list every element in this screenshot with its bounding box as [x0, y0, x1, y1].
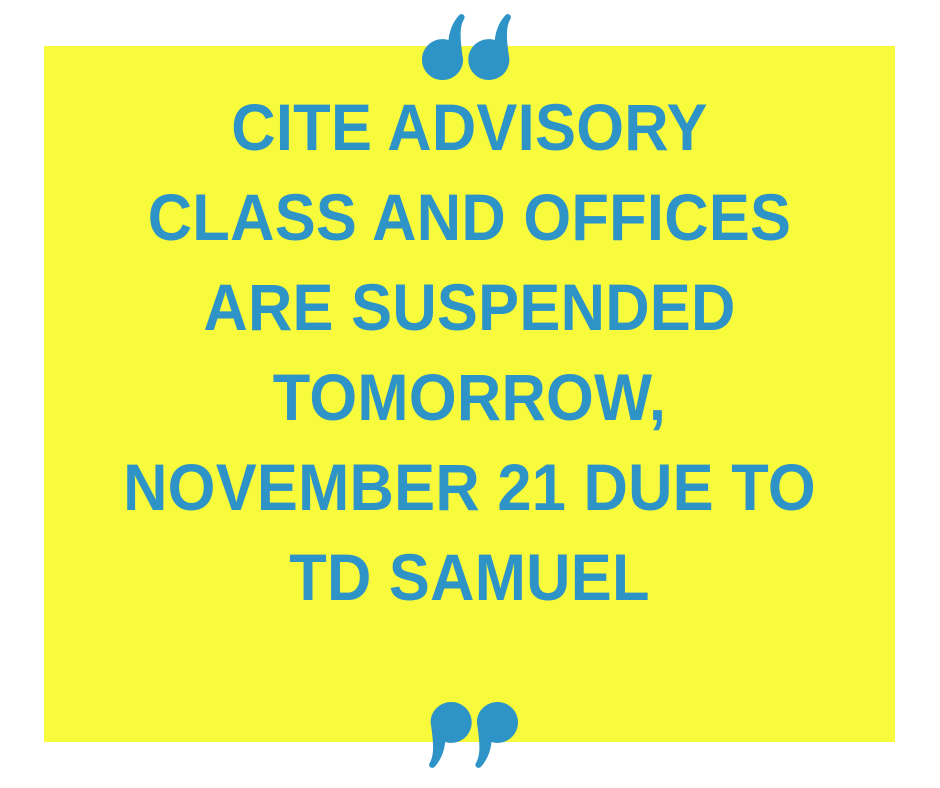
headline-line-4: TOMORROW,	[74, 352, 865, 442]
headline-line-1: CITE ADVISORY	[74, 82, 865, 172]
headline-line-6: TD SAMUEL	[74, 532, 865, 622]
headline-line-3: ARE SUSPENDED	[74, 262, 865, 352]
headline-block: CITE ADVISORY CLASS AND OFFICES ARE SUSP…	[44, 82, 895, 622]
headline-line-2: CLASS AND OFFICES	[74, 172, 865, 262]
poster-canvas: CITE ADVISORY CLASS AND OFFICES ARE SUSP…	[0, 0, 940, 788]
headline-line-5: NOVEMBER 21 DUE TO	[74, 442, 865, 532]
